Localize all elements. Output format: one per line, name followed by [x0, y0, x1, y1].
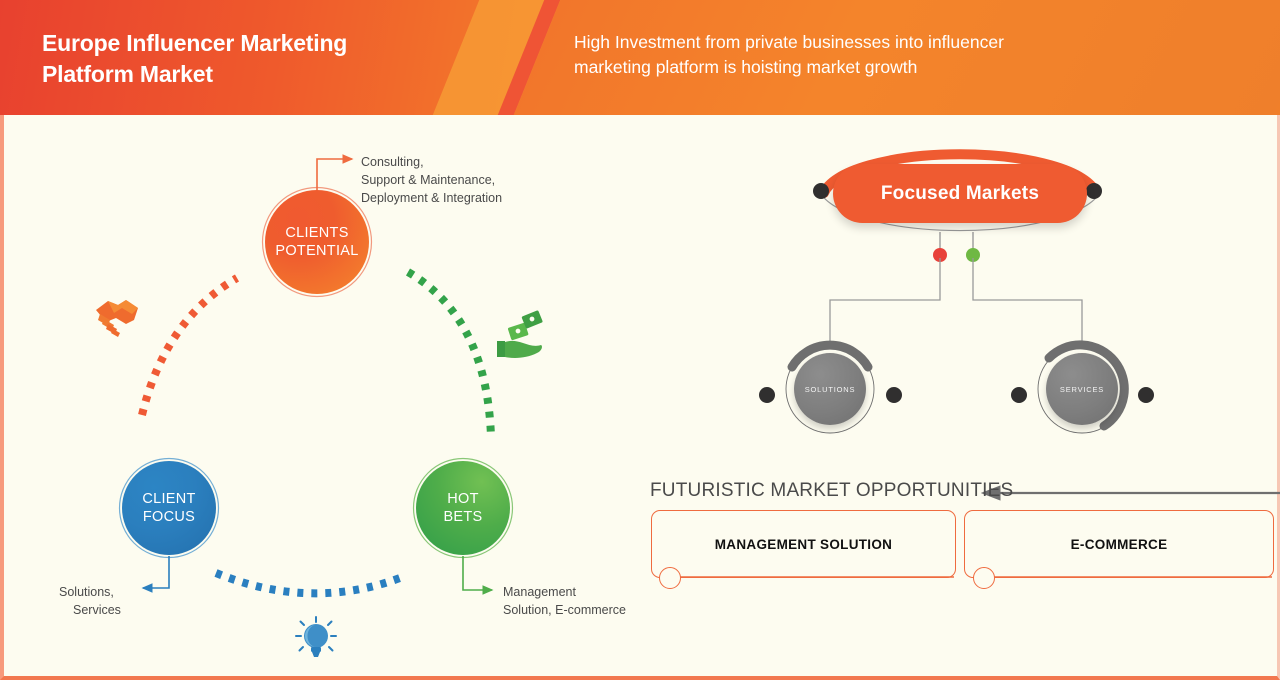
- hot-bets-bubble[interactable]: HOT BETS: [416, 461, 510, 555]
- hot-bets-callout-line1: Management: [503, 583, 626, 601]
- e-commerce-label: E-COMMERCE: [1071, 537, 1168, 552]
- page-title: Europe Influencer Marketing Platform Mar…: [42, 28, 462, 89]
- services-node[interactable]: SERVICES: [1046, 353, 1118, 425]
- page-title-line1: Europe Influencer Marketing: [42, 28, 462, 59]
- clients-potential-callout-line3: Deployment & Integration: [361, 189, 502, 207]
- clients-potential-label-line2: POTENTIAL: [275, 242, 358, 260]
- clients-potential-label-line1: CLIENTS: [285, 224, 348, 242]
- header-subtitle-line1: High Investment from private businesses …: [574, 30, 1174, 55]
- solutions-node-label: SOLUTIONS: [805, 385, 856, 394]
- client-focus-callout-line1: Solutions,: [59, 583, 121, 601]
- header-subtitle: High Investment from private businesses …: [574, 30, 1174, 81]
- infographic-root: Europe Influencer Marketing Platform Mar…: [0, 0, 1280, 680]
- management-solution-knob: [659, 567, 681, 589]
- services-node-label: SERVICES: [1060, 385, 1104, 394]
- client-focus-label-line2: FOCUS: [143, 508, 195, 526]
- clients-potential-callout-line1: Consulting,: [361, 153, 502, 171]
- management-solution-label: MANAGEMENT SOLUTION: [715, 537, 892, 552]
- header-subtitle-line2: marketing platform is hoisting market gr…: [574, 55, 1174, 80]
- client-focus-callout-line2: Services: [59, 601, 121, 619]
- focused-markets-pill[interactable]: Focused Markets: [833, 164, 1087, 223]
- hot-bets-callout: Management Solution, E-commerce: [503, 583, 626, 619]
- client-focus-bubble[interactable]: CLIENT FOCUS: [122, 461, 216, 555]
- e-commerce-knob: [973, 567, 995, 589]
- management-solution-box[interactable]: MANAGEMENT SOLUTION: [651, 510, 956, 578]
- futuristic-section-title: FUTURISTIC MARKET OPPORTUNITIES: [650, 480, 1013, 502]
- solutions-node[interactable]: SOLUTIONS: [794, 353, 866, 425]
- focused-markets-label: Focused Markets: [881, 183, 1039, 205]
- clients-potential-bubble[interactable]: CLIENTS POTENTIAL: [265, 190, 369, 294]
- header-banner: Europe Influencer Marketing Platform Mar…: [0, 0, 1280, 115]
- page-title-line2: Platform Market: [42, 59, 462, 90]
- hot-bets-label-line1: HOT: [447, 490, 479, 508]
- clients-potential-callout: Consulting, Support & Maintenance, Deplo…: [361, 153, 502, 207]
- client-focus-callout: Solutions, Services: [59, 583, 121, 619]
- hot-bets-callout-line2: Solution, E-commerce: [503, 601, 626, 619]
- e-commerce-box[interactable]: E-COMMERCE: [964, 510, 1274, 578]
- hot-bets-label-line2: BETS: [443, 508, 482, 526]
- clients-potential-callout-line2: Support & Maintenance,: [361, 171, 502, 189]
- client-focus-label-line1: CLIENT: [142, 490, 195, 508]
